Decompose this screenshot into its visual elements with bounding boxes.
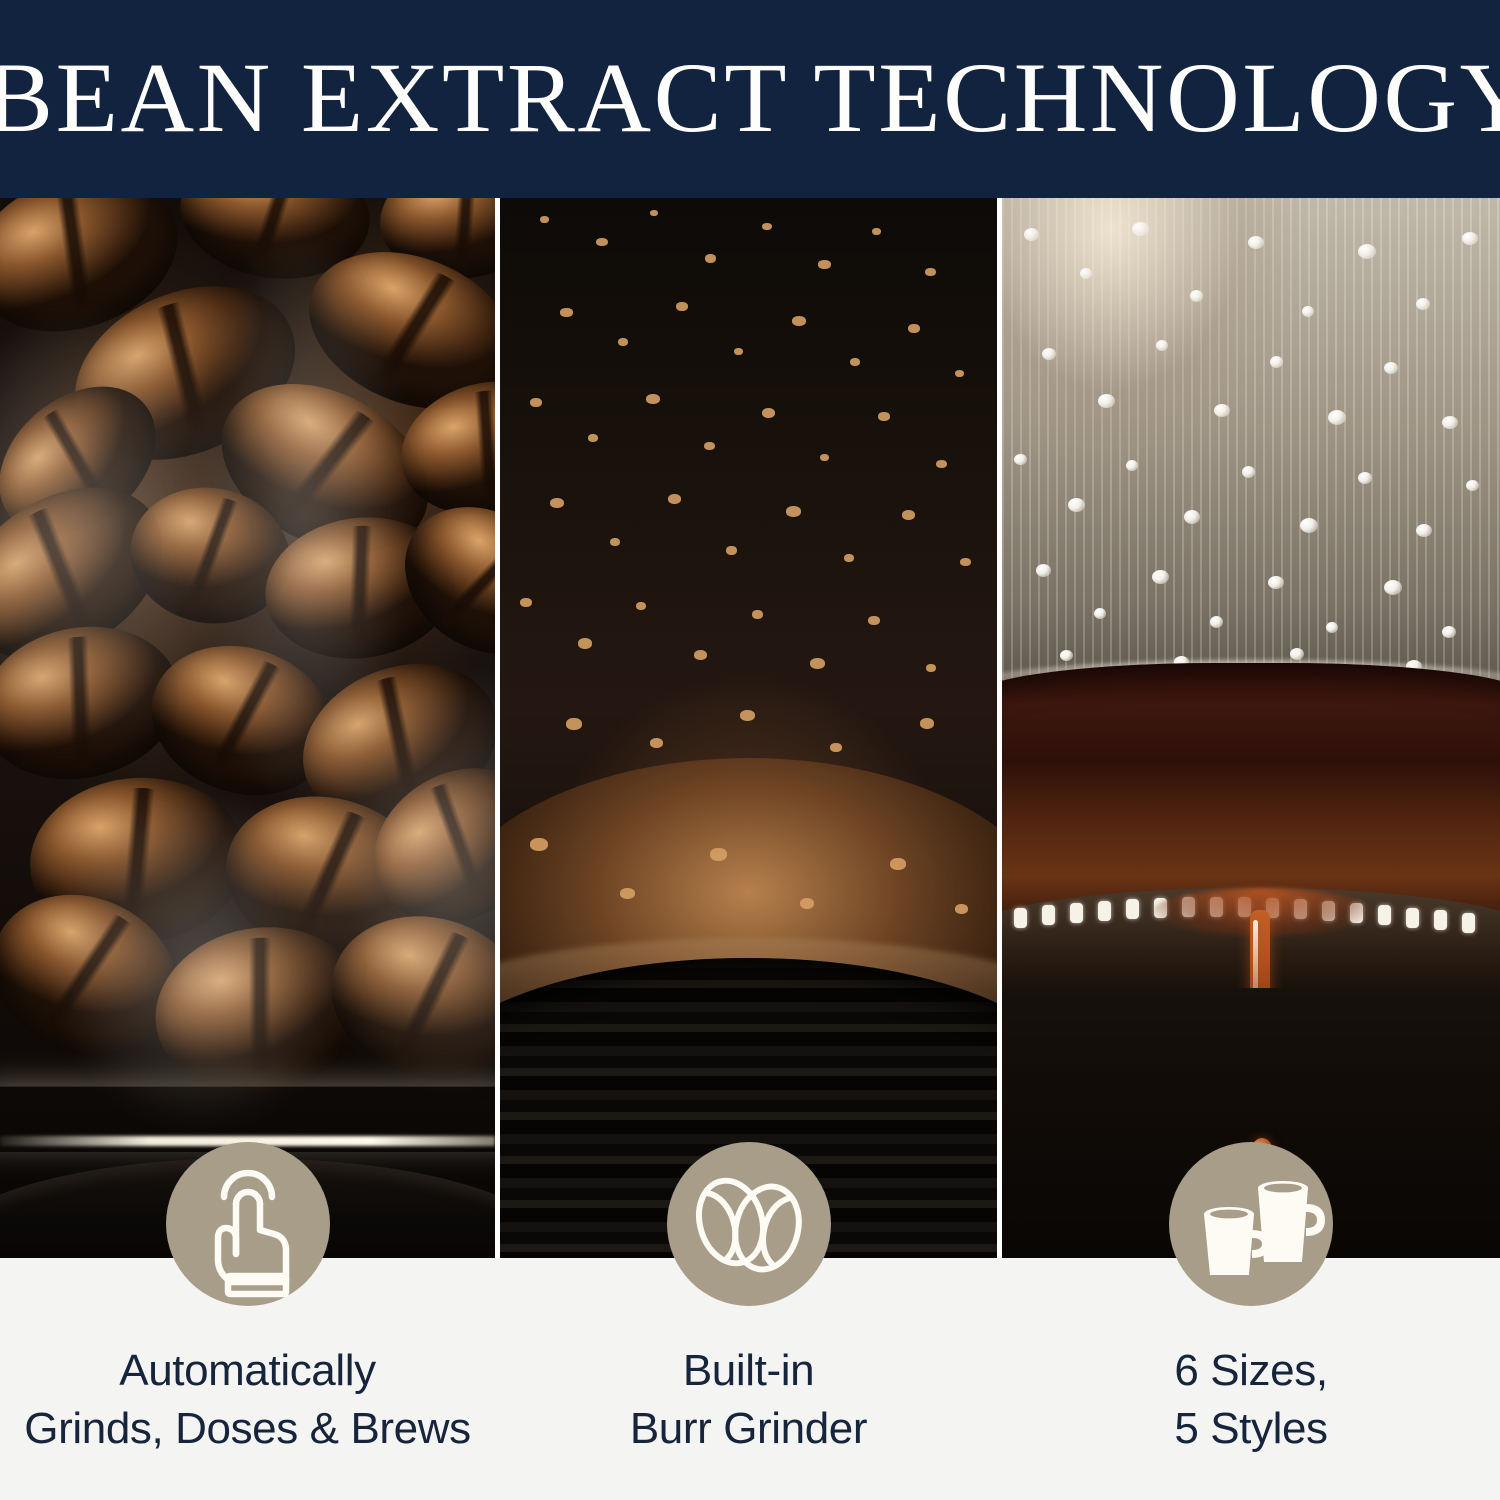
feature-caption-3: 6 Sizes, 5 Styles	[1002, 1342, 1500, 1458]
coffee-beans-on-grinder-blade-photo	[0, 198, 495, 1280]
caption-line-2: Burr Grinder	[500, 1400, 997, 1458]
caption-line-1: Automatically	[0, 1342, 495, 1400]
feature-caption-2: Built-in Burr Grinder	[500, 1342, 997, 1458]
product-feature-infographic: BEAN EXTRACT TECHNOLOGY	[0, 0, 1500, 1500]
page-title: BEAN EXTRACT TECHNOLOGY	[0, 44, 1500, 152]
feature-panel-2	[500, 198, 997, 1258]
water-spray	[1002, 198, 1500, 718]
photo-strip	[0, 198, 1500, 1283]
feature-badge-1	[166, 1142, 330, 1306]
feature-caption-1: Automatically Grinds, Doses & Brews	[0, 1342, 495, 1458]
caption-line-2: Grinds, Doses & Brews	[0, 1400, 495, 1458]
caption-line-1: 6 Sizes,	[1002, 1342, 1500, 1400]
caption-line-2: 5 Styles	[1002, 1400, 1500, 1458]
feature-badge-3	[1169, 1142, 1333, 1306]
feature-panel-1	[0, 198, 495, 1280]
caption-line-1: Built-in	[500, 1342, 997, 1400]
water-showering-coffee-bed-photo	[1002, 198, 1500, 1263]
coffee-grounds-bed	[1002, 663, 1500, 923]
feature-badge-2	[667, 1142, 831, 1306]
touch-hand-icon	[166, 1142, 330, 1306]
header-banner: BEAN EXTRACT TECHNOLOGY	[0, 0, 1500, 198]
two-coffee-cups-icon	[1169, 1142, 1333, 1306]
feature-panel-3	[1002, 198, 1500, 1263]
coffee-beans-icon	[667, 1142, 831, 1306]
ground-coffee-falling-photo	[500, 198, 997, 1258]
